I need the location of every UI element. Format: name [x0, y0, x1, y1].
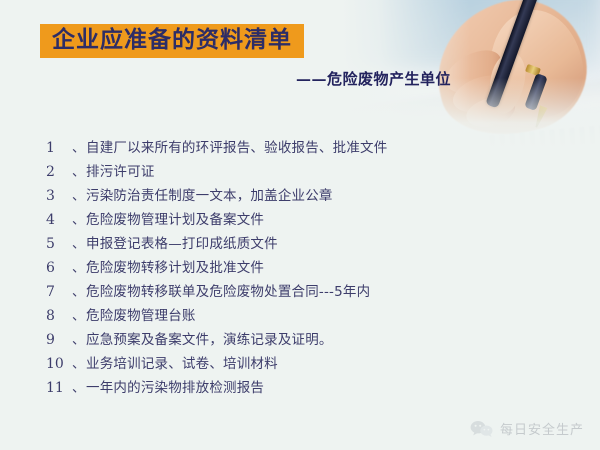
list-item-number: 3	[46, 188, 72, 204]
list-item-number: 7	[46, 284, 72, 300]
wechat-icon	[470, 420, 494, 438]
list-item-label: 污染防治责任制度一文本，加盖企业公章	[86, 184, 333, 204]
list-item-separator: 、	[72, 281, 85, 300]
list-item: 11 、 一年内的污染物排放检测报告	[46, 376, 387, 400]
photo-finger-3	[463, 92, 519, 133]
wechat-watermark: 每日安全生产	[470, 419, 584, 438]
list-item: 8 、 危险废物管理台账	[46, 304, 387, 328]
list-item-label: 危险废物转移计划及批准文件	[86, 256, 264, 276]
list-item-number: 4	[46, 212, 72, 228]
list-item: 9 、 应急预案及备案文件，演练记录及证明。	[46, 328, 387, 352]
list-item-separator: 、	[72, 377, 85, 396]
list-item-label: 一年内的污染物排放检测报告	[86, 376, 264, 396]
slide-canvas: 企业应准备的资料清单 ——危险废物产生单位 1 、 自建厂以来所有的环评报告、验…	[0, 0, 600, 450]
list-item-label: 业务培训记录、试卷、培训材料	[86, 352, 278, 372]
list-item-label: 申报登记表格—打印成纸质文件	[86, 232, 278, 252]
photo-written-lines	[489, 125, 600, 150]
document-checklist: 1 、 自建厂以来所有的环评报告、验收报告、批准文件 2 、 排污许可证 3 、…	[46, 136, 387, 400]
list-item-separator: 、	[72, 161, 85, 180]
list-item: 4 、 危险废物管理计划及备案文件	[46, 208, 387, 232]
list-item-label: 应急预案及备案文件，演练记录及证明。	[86, 328, 333, 348]
list-item-number: 11	[46, 380, 72, 396]
page-title: 企业应准备的资料清单	[52, 27, 292, 53]
slide-subtitle: ——危险废物产生单位	[296, 68, 451, 89]
photo-knuckles	[481, 3, 590, 125]
list-item-separator: 、	[72, 209, 85, 228]
photo-pen-nib	[532, 105, 547, 128]
list-item: 2 、 排污许可证	[46, 160, 387, 184]
list-item-separator: 、	[72, 137, 85, 156]
list-item-number: 9	[46, 332, 72, 348]
photo-pen-barrel	[485, 0, 540, 108]
list-item: 1 、 自建厂以来所有的环评报告、验收报告、批准文件	[46, 136, 387, 160]
list-item-label: 排污许可证	[86, 160, 155, 180]
list-item-label: 危险废物管理计划及备案文件	[86, 208, 264, 228]
list-item-separator: 、	[72, 305, 85, 324]
list-item-label: 自建厂以来所有的环评报告、验收报告、批准文件	[86, 136, 387, 156]
list-item: 7 、 危险废物转移联单及危险废物处置合同---5年内	[46, 280, 387, 304]
list-item-number: 8	[46, 308, 72, 324]
photo-background-blur	[340, 0, 600, 70]
list-item-number: 6	[46, 260, 72, 276]
list-item: 5 、 申报登记表格—打印成纸质文件	[46, 232, 387, 256]
list-item-separator: 、	[72, 329, 85, 348]
slide-title-band: 企业应准备的资料清单	[40, 24, 304, 58]
list-item-number: 10	[46, 356, 72, 372]
list-item-label: 危险废物转移联单及危险废物处置合同---5年内	[86, 280, 370, 300]
photo-pen-grip	[524, 73, 548, 111]
photo-thumb	[484, 49, 530, 117]
list-item-number: 5	[46, 236, 72, 252]
list-item-number: 2	[46, 164, 72, 180]
list-item-separator: 、	[72, 185, 85, 204]
watermark-label: 每日安全生产	[500, 419, 584, 438]
list-item: 10 、 业务培训记录、试卷、培训材料	[46, 352, 387, 376]
list-item-separator: 、	[72, 233, 85, 252]
list-item-separator: 、	[72, 353, 85, 372]
list-item: 3 、 污染防治责任制度一文本，加盖企业公章	[46, 184, 387, 208]
list-item-separator: 、	[72, 257, 85, 276]
list-item-number: 1	[46, 140, 72, 156]
photo-finger-2	[448, 69, 512, 120]
list-item-label: 危险废物管理台账	[86, 304, 196, 324]
photo-pen-gold-ring	[525, 64, 541, 76]
list-item: 6 、 危险废物转移计划及批准文件	[46, 256, 387, 280]
